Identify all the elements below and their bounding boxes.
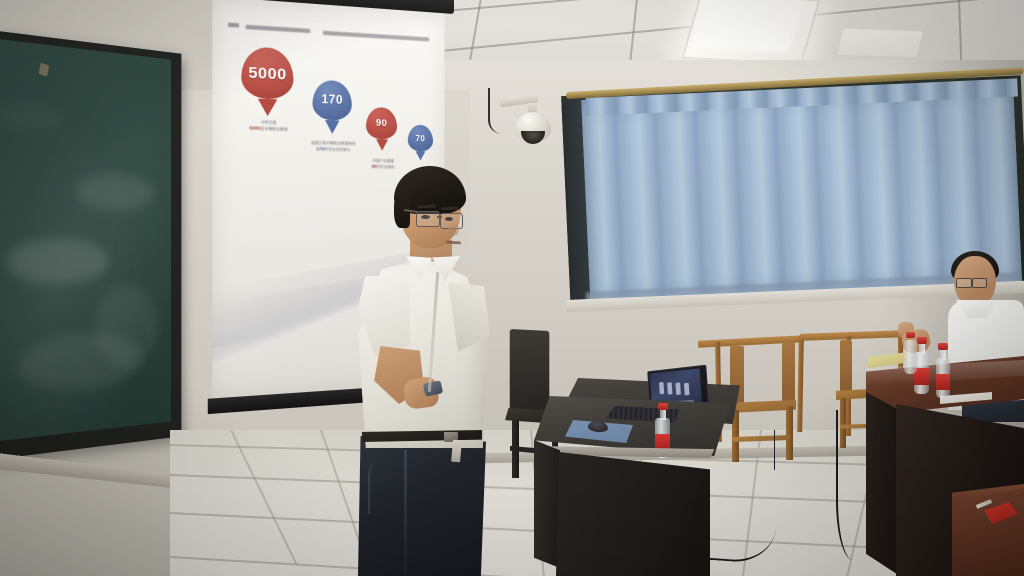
presenter-trouser-crease: [404, 450, 407, 576]
podium-front-panel: [556, 452, 710, 576]
water-bottle-table-3-cap: [906, 332, 915, 338]
wooden-chair-2-back: [840, 340, 852, 392]
camera-cable: [488, 88, 504, 134]
dark-chair-back: [510, 329, 550, 417]
classroom-photo: 5000 中学文数 5000名中等职业教育 170 全国已有中等职业教育院校 1…: [0, 0, 1024, 576]
slide-pin-1: 5000: [241, 46, 293, 100]
floor-cable-3: [752, 430, 775, 470]
slide-pin-3-caption: 中国产业报道 90所专业院校: [358, 158, 408, 170]
seated-attendee-glasses-left: [956, 278, 972, 288]
water-bottle-podium-label: [655, 434, 670, 450]
wooden-chair-1-leg-back: [786, 406, 793, 460]
podium-side-panel: [534, 440, 560, 568]
water-bottle-table-3: [904, 340, 917, 374]
slide-pin-4: 70: [408, 125, 433, 152]
slide-pin-1-caption-bold: 5000: [249, 125, 260, 131]
slide-pin-3: 90: [366, 107, 397, 140]
chalkboard: [0, 38, 171, 442]
water-bottle-table-1-cap: [917, 337, 927, 344]
chalkboard-frame: [0, 30, 181, 460]
slide-pin-2: 170: [312, 80, 351, 121]
presenter-badge: [451, 440, 462, 463]
seated-attendee-glasses-right: [972, 278, 987, 288]
slide-pin-2-caption-top: 全国已有中等职业教育院校: [311, 141, 356, 146]
slide-pin-2-caption: 全国已有中等职业教育院校 170所专业共同参与: [302, 141, 364, 154]
wooden-chair-1-back-right: [782, 342, 795, 406]
slide-pin-3-caption-top: 中国产业报道: [372, 159, 394, 163]
slide-pin-1-caption: 中学文数 5000名中等职业教育: [228, 119, 308, 133]
water-bottle-podium-cap: [658, 403, 668, 410]
slide-title: [228, 21, 431, 43]
presenter-glasses-left-lens: [416, 211, 440, 227]
ceiling-light-glow: [694, 0, 802, 53]
water-bottle-table-2-label: [936, 374, 950, 390]
water-bottle-table-2-cap: [938, 343, 948, 350]
presenter-glasses-bridge: [437, 216, 442, 218]
presenter-nose: [448, 222, 459, 236]
presenter-trouser-pocket: [368, 462, 394, 514]
floor-cable-2: [836, 410, 878, 560]
slide-pin-1-caption-rest: 名中等职业教育: [261, 127, 288, 132]
slide-pin-2-caption-rest: 所专业共同参与: [324, 147, 350, 152]
slide-pin-3-caption-rest: 所专业院校: [377, 165, 395, 169]
presenter-eyebrow-right: [441, 207, 458, 211]
slide-pin-1-caption-top: 中学文数: [261, 120, 277, 125]
ceiling-light-secondary: [837, 29, 923, 58]
